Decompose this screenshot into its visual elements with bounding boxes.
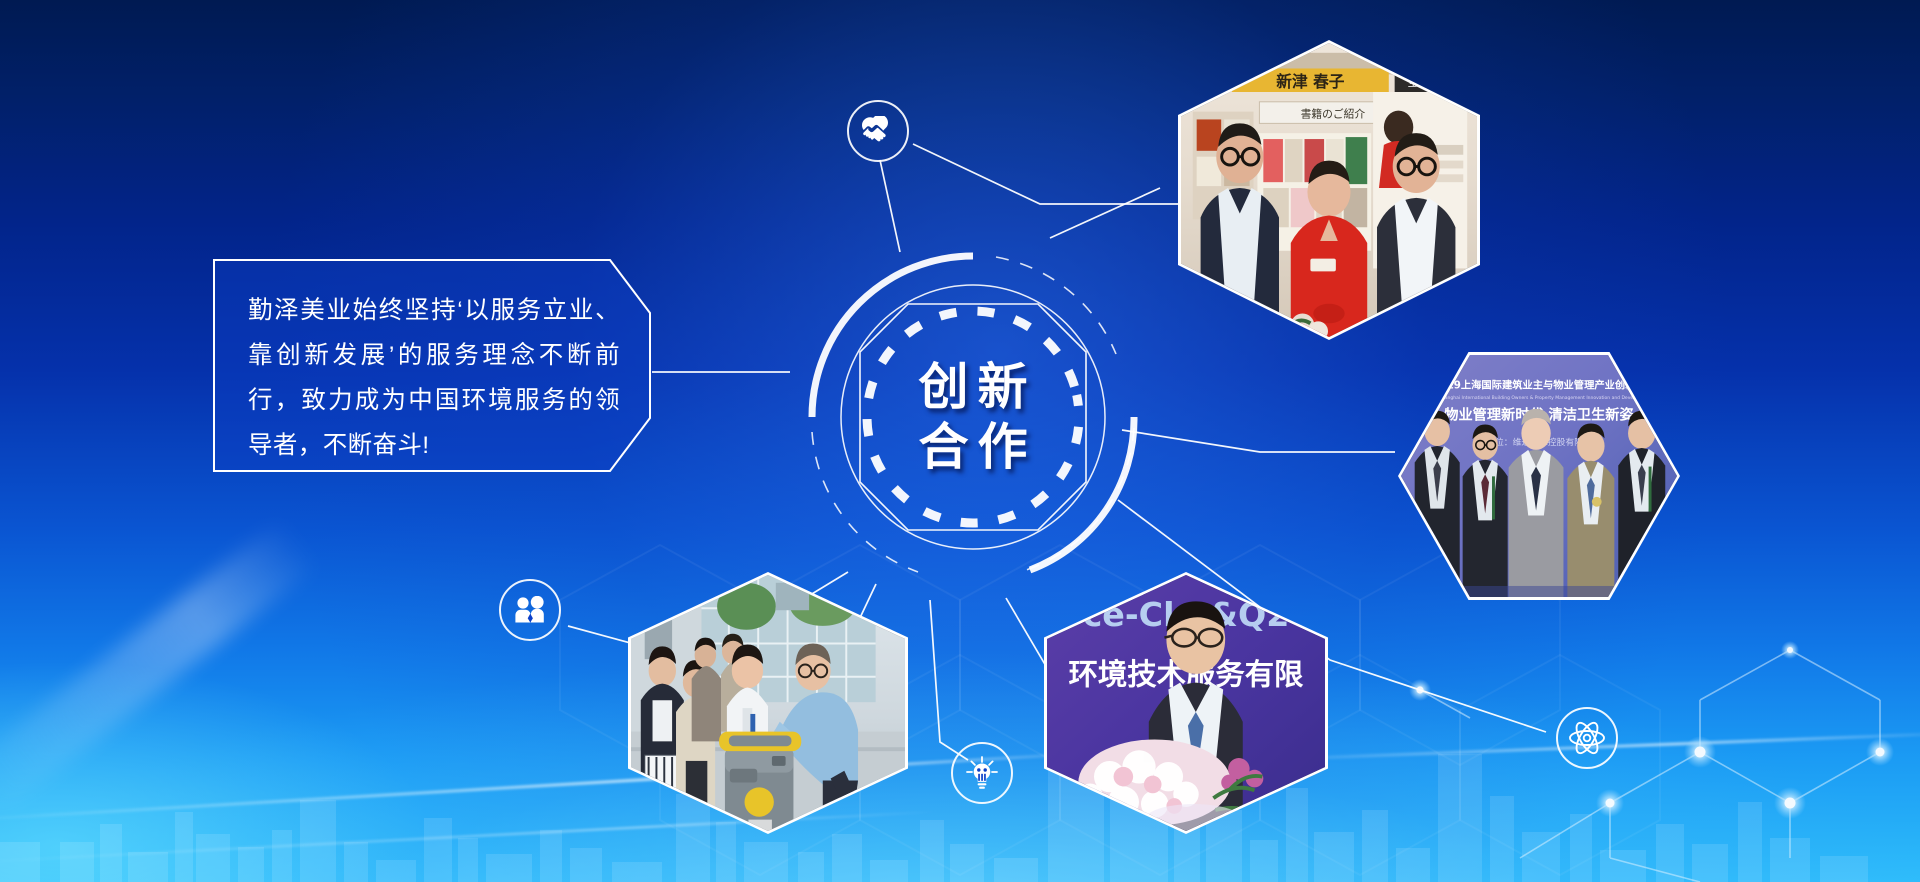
- icon-bubble-lightbulb[interactable]: [951, 742, 1013, 804]
- svg-text:書籍のご紹介: 書籍のご紹介: [1301, 107, 1366, 120]
- icon-bubble-atom[interactable]: [1556, 707, 1618, 769]
- svg-text:2019上海国际建筑业主与物业管理产业创新发: 2019上海国际建筑业主与物业管理产业创新发: [1432, 378, 1646, 391]
- svg-text:2019 Shanghai International Bu: 2019 Shanghai International Building Own…: [1426, 395, 1652, 401]
- icon-bubble-handshake[interactable]: [847, 100, 909, 162]
- hub-label-group: 创新 合作: [798, 242, 1148, 592]
- mission-statement-text: 勤泽美业始终坚持‘以服务立业、靠创新发展’的服务理念不断前行，致力成为中国环境服…: [248, 288, 620, 468]
- handshake-heart-icon: [861, 116, 895, 146]
- mission-callout: 勤泽美业始终坚持‘以服务立业、靠创新发展’的服务理念不断前行，致力成为中国环境服…: [212, 258, 652, 473]
- svg-text:新津 春子: 新津 春子: [1276, 72, 1344, 91]
- atom-science-icon: [1568, 719, 1606, 757]
- central-hub: 创新 合作: [798, 242, 1148, 592]
- icon-bubble-people[interactable]: [499, 579, 561, 641]
- hub-label-line2: 合作: [910, 422, 1037, 473]
- lightbulb-idea-icon: [966, 756, 998, 790]
- hub-label-line1: 创新: [910, 362, 1037, 413]
- people-group-icon: [513, 596, 547, 624]
- banner-stage: 勤泽美业始终坚持‘以服务立业、靠创新发展’的服务理念不断前行，致力成为中国环境服…: [0, 0, 1920, 882]
